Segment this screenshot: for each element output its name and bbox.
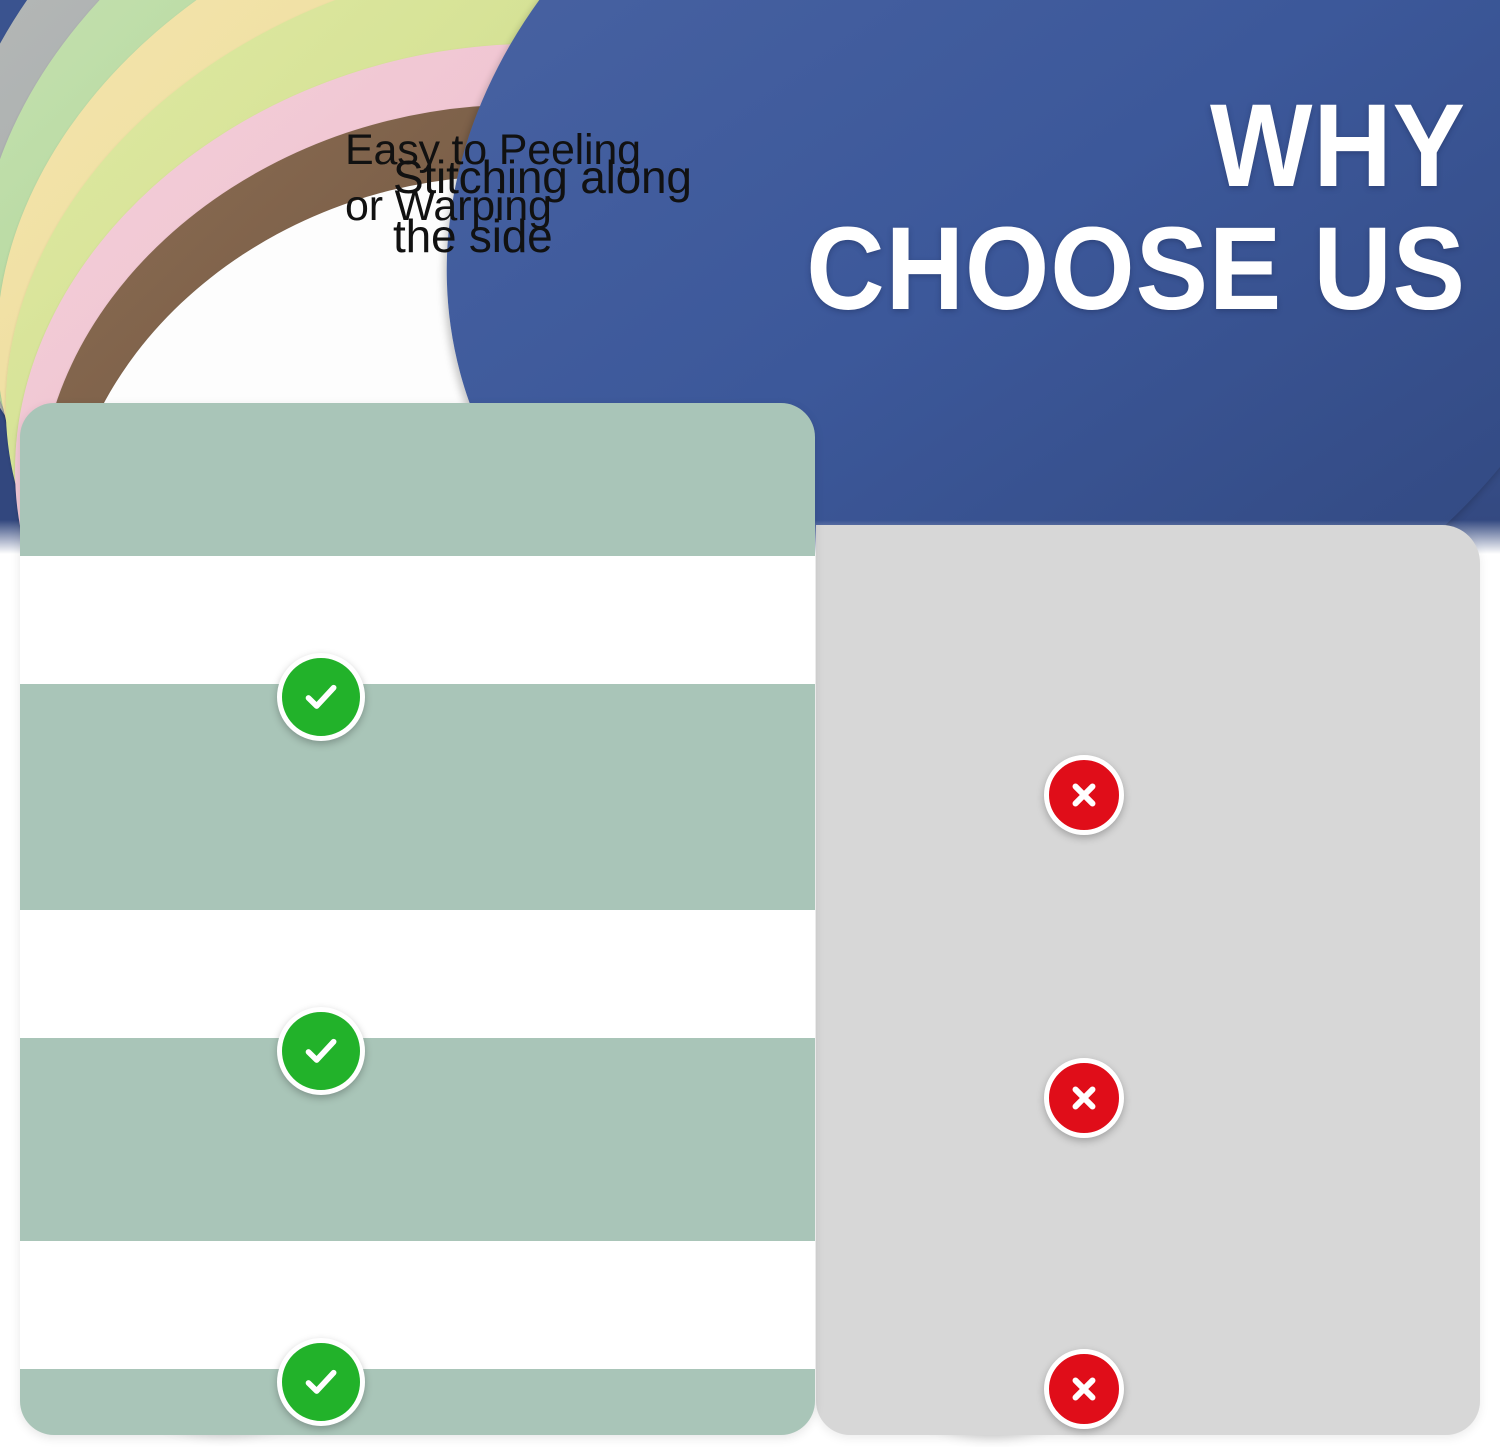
cons-item-1-line-2: or Warping	[345, 179, 675, 235]
stripe-row-3	[20, 1241, 815, 1369]
check-icon	[277, 653, 365, 741]
stripe-row-1	[20, 556, 815, 684]
cross-icon	[1044, 1349, 1124, 1429]
page-title: WHY CHOOSE US	[726, 92, 1466, 323]
title-line-2: CHOOSE US	[785, 215, 1466, 324]
pros-panel	[20, 403, 815, 1435]
check-icon	[277, 1338, 365, 1426]
cons-item-1-line-1: Easy to Peeling	[345, 123, 675, 179]
infographic-canvas: WHY CHOOSE US	[0, 0, 1500, 1447]
cross-icon	[1044, 755, 1124, 835]
check-icon	[277, 1007, 365, 1095]
title-line-1: WHY	[785, 92, 1466, 201]
cons-item-1-label: Easy to Peeling or Warping	[345, 123, 675, 235]
cross-icon	[1044, 1058, 1124, 1138]
stripe-row-2	[20, 910, 815, 1038]
cons-panel	[816, 525, 1480, 1435]
